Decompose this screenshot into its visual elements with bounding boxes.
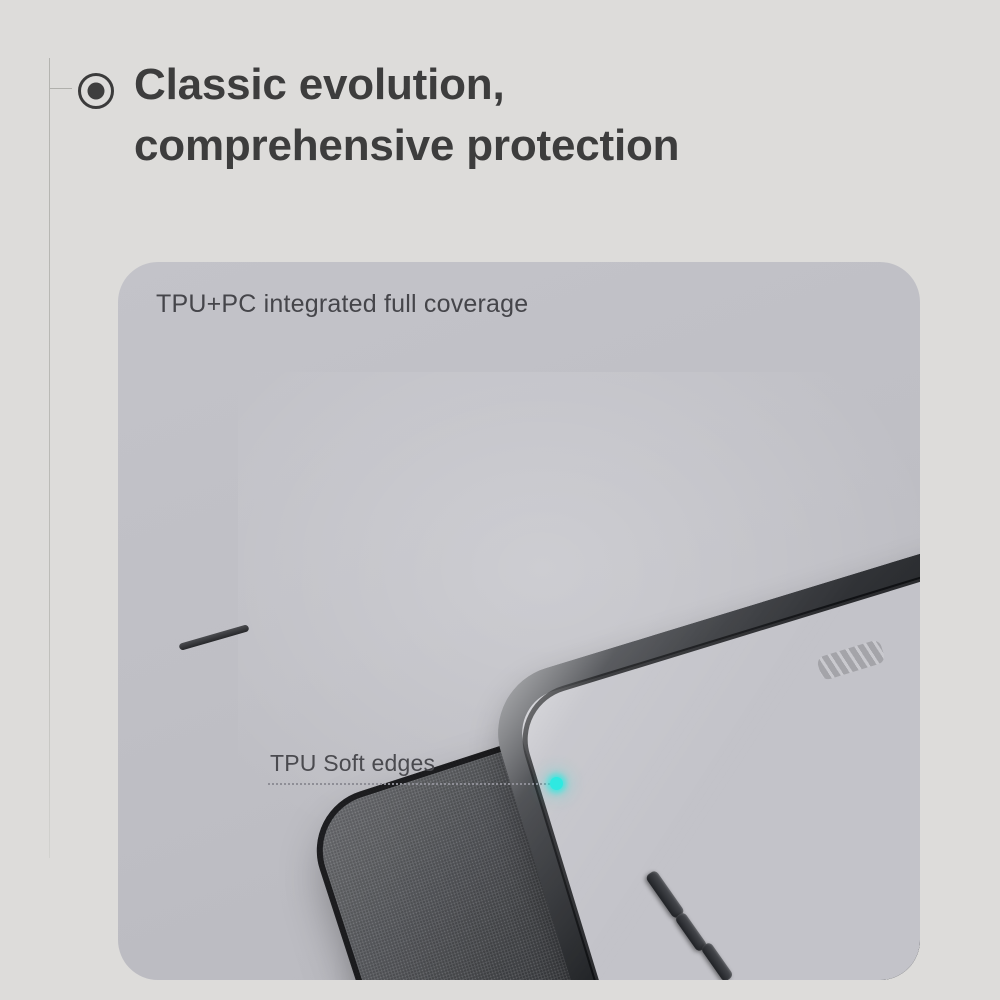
- phone-side-button: [178, 624, 249, 651]
- callout-line-tpu-soft-edges: [268, 783, 554, 785]
- callout-marker-tpu-soft-edges: [550, 777, 563, 790]
- page-title: Classic evolution, comprehensive protect…: [78, 55, 958, 176]
- headline-line-2: comprehensive protection: [134, 116, 958, 177]
- callout-label-tpu-soft-edges: TPU Soft edges: [270, 750, 435, 777]
- rail-tick-mark: [50, 88, 72, 89]
- target-bullet-icon: [78, 73, 114, 109]
- product-feature-graphic: Classic evolution, comprehensive protect…: [0, 0, 1000, 1000]
- left-rail-line: [49, 58, 50, 858]
- headline-block: Classic evolution, comprehensive protect…: [78, 55, 958, 176]
- headline-line-1: Classic evolution,: [134, 55, 958, 116]
- panel-title: TPU+PC integrated full coverage: [156, 290, 528, 319]
- product-scene: [118, 262, 920, 980]
- product-panel: TPU+PC integrated full coverage TPU Soft…: [118, 262, 920, 980]
